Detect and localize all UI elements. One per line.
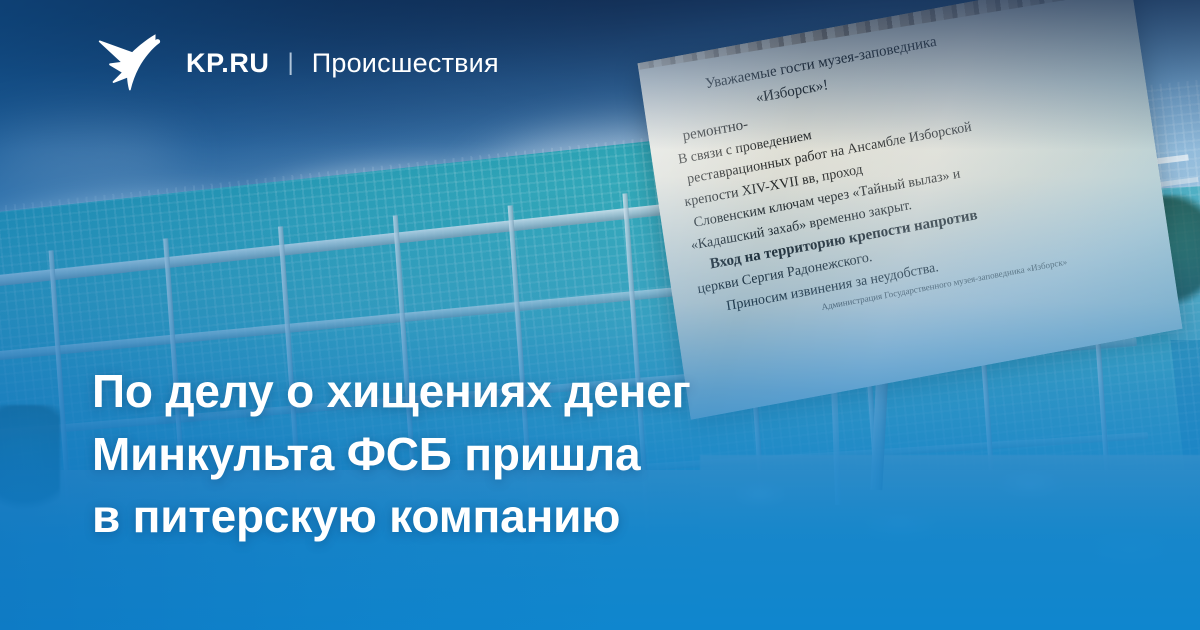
headline-line-1: По делу о хищениях денег — [92, 360, 972, 423]
brand-name[interactable]: KP.RU — [186, 48, 270, 79]
social-share-card: Уважаемые гости музея-заповедника «Избор… — [0, 0, 1200, 630]
headline-line-2: Минкульта ФСБ пришла — [92, 423, 972, 486]
header-divider: | — [288, 49, 294, 77]
site-header: KP.RU | Происшествия — [92, 32, 499, 94]
headline-line-3: в питерскую компанию — [92, 485, 972, 548]
section-name[interactable]: Происшествия — [312, 48, 499, 79]
page-title: По делу о хищениях денег Минкульта ФСБ п… — [92, 360, 972, 548]
swallow-bird-icon — [92, 32, 164, 94]
